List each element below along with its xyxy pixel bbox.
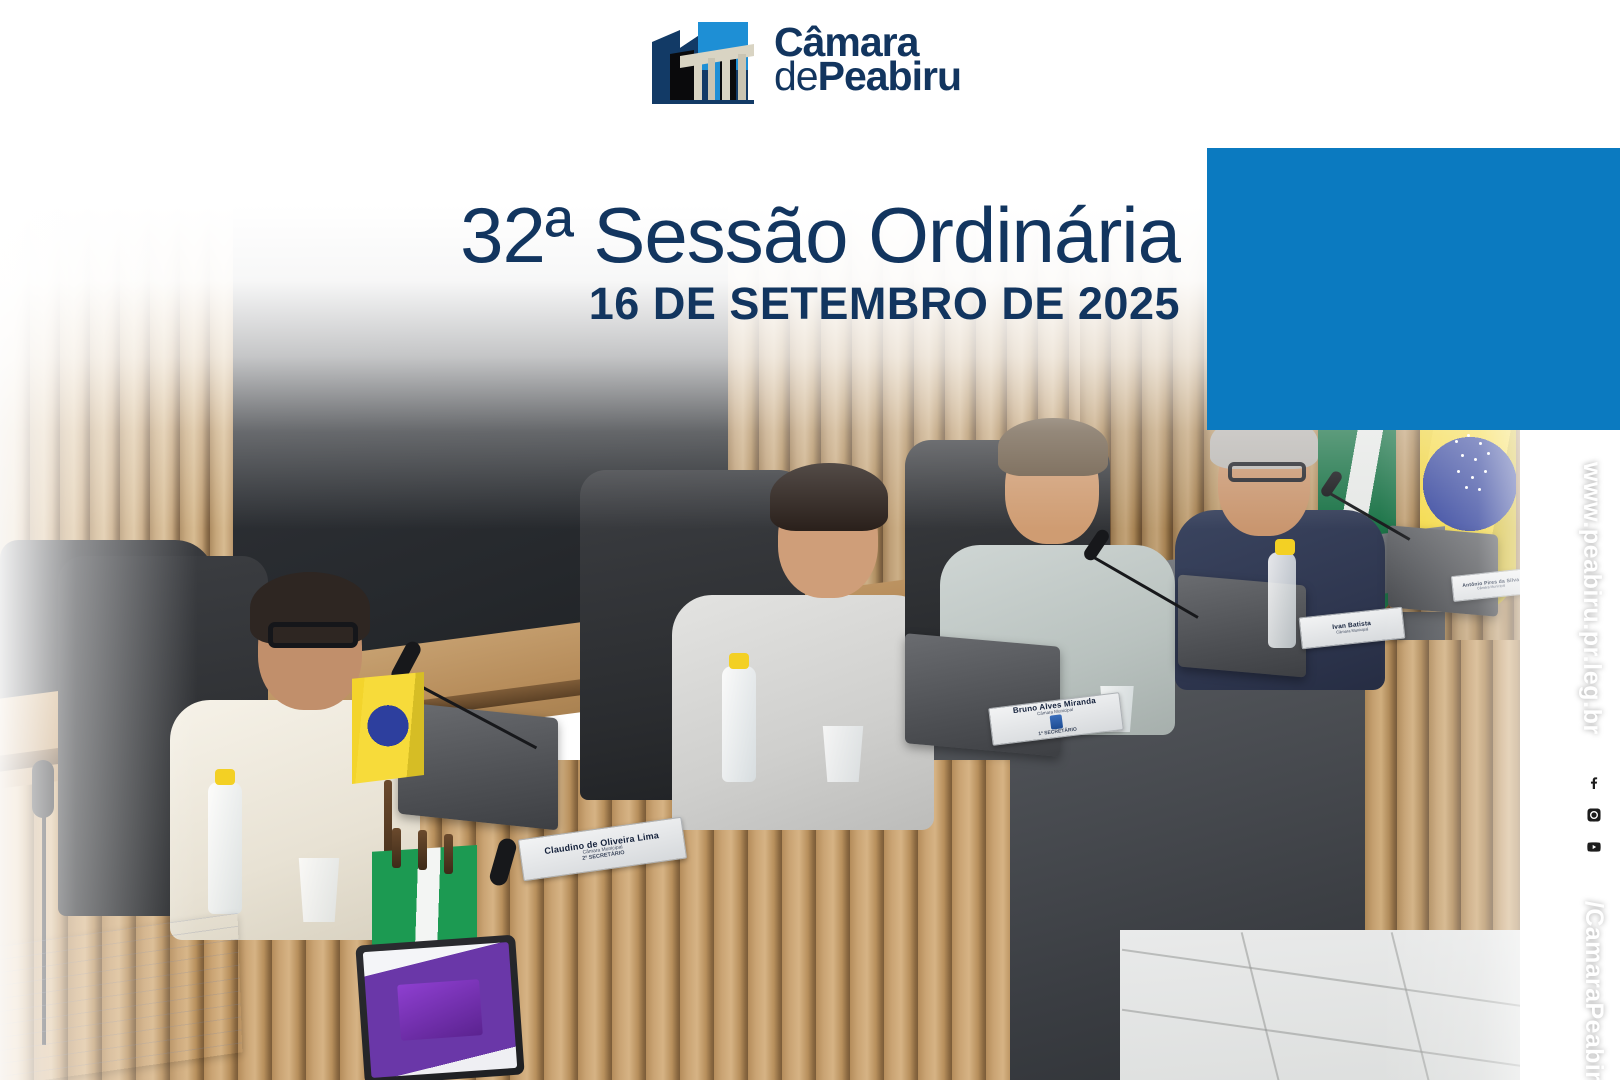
social-handle[interactable]: /CamaraPeabiru [1579,901,1608,1080]
session-title: 32ª Sessão Ordinária [0,196,1180,276]
logo-line-de-peabiru: dePeabiru [774,60,961,94]
social-media-strip: /CamaraPeabiru [1579,770,1608,1080]
session-announcement-graphic: Claudino de Oliveira Lima Câmara Municip… [0,0,1620,1080]
building-logo-icon [650,14,760,106]
instagram-icon[interactable] [1581,802,1607,828]
logo-peabiru: Peabiru [818,53,961,99]
youtube-icon[interactable] [1581,834,1607,860]
camara-logo[interactable]: Câmara dePeabiru [650,14,961,106]
blue-accent-block [1207,148,1620,430]
logo-wordmark: Câmara dePeabiru [774,26,961,93]
website-url[interactable]: www.peabiru.pr.leg.br [1577,462,1606,735]
title-block: 32ª Sessão Ordinária 16 DE SETEMBRO DE 2… [0,196,1180,330]
session-date: 16 DE SETEMBRO DE 2025 [0,278,1180,330]
logo-de: de [774,53,818,99]
social-icon-list [1581,770,1607,892]
facebook-icon[interactable] [1581,770,1607,796]
tiktok-icon[interactable] [1581,866,1607,892]
